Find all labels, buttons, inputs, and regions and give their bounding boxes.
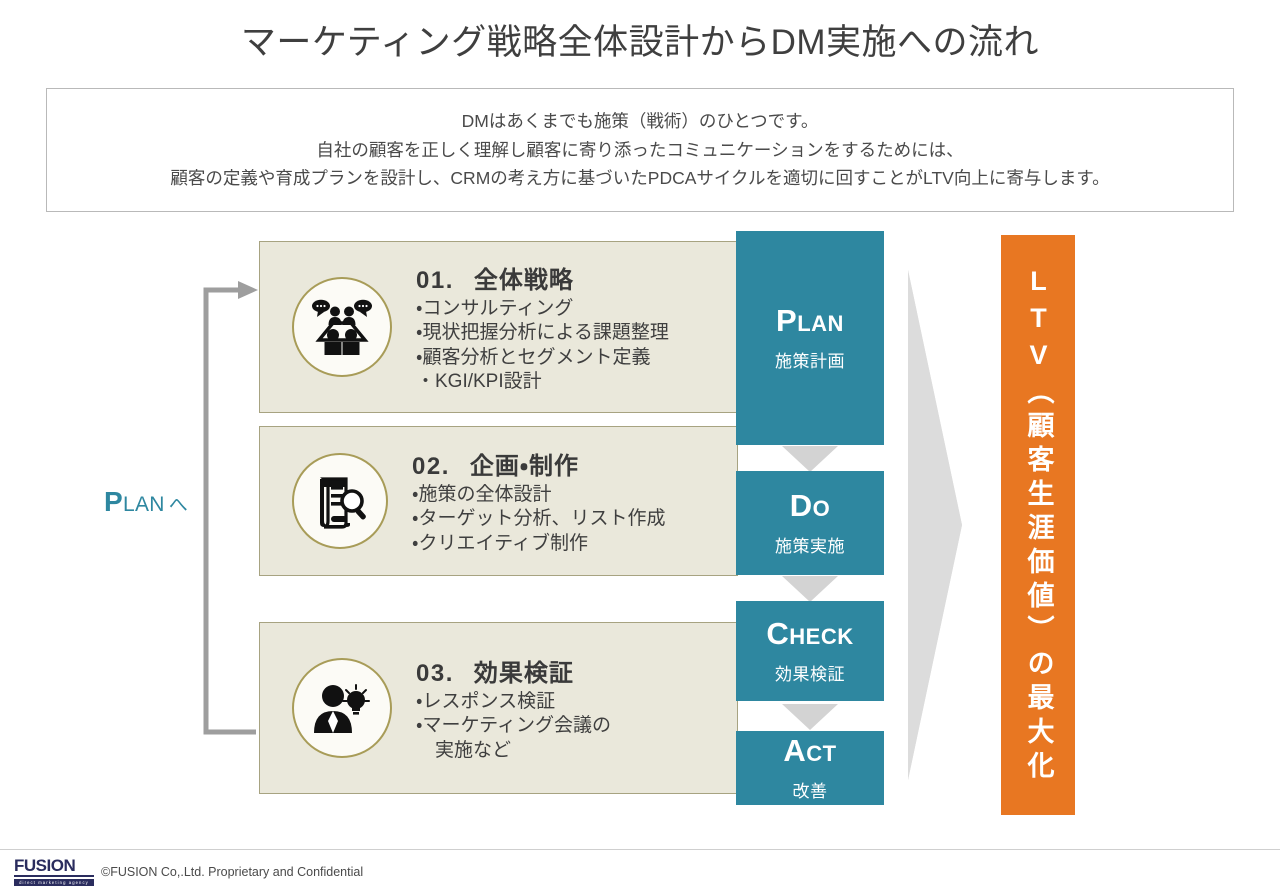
pdca-box-do[interactable]: DO 施策実施	[736, 471, 884, 575]
pdca-do-rest: O	[813, 496, 831, 521]
meeting-people-icon-svg	[311, 299, 373, 355]
step-card-03-title: 効果検証	[474, 660, 574, 687]
document-search-icon-svg	[312, 473, 368, 529]
step-card-01-list: ・コンサルティング ・現状把握分析による課題整理 ・顧客分析とセグメント定義 ・…	[416, 297, 737, 395]
right-chevron-svg	[900, 270, 1010, 780]
step-card-02-number: 02.	[412, 453, 450, 480]
list-item: ・レスポンス検証	[416, 690, 737, 715]
pdca-check-cap: C	[766, 616, 789, 651]
pdca-plan-rest: LAN	[797, 311, 844, 336]
list-item: ・施策の全体設計	[412, 483, 737, 508]
pdca-do-cap: D	[790, 488, 813, 523]
slide-root: マーケティング戦略全体設計からDM実施への流れ DMはあくまでも施策（戦術）のひ…	[0, 0, 1280, 887]
meeting-people-icon	[292, 277, 392, 377]
list-item: ・KGI/KPI設計	[416, 370, 737, 395]
lead-description-text: DMはあくまでも施策（戦術）のひとつです。 自社の顧客を正しく理解し顧客に寄り添…	[160, 107, 1119, 192]
step-card-02-heading: 02.企画・制作	[412, 446, 737, 481]
fusion-logo-wordmark: FUSION	[14, 857, 94, 877]
copyright-text: ©FUSION Co,.Ltd. Proprietary and Confide…	[101, 865, 363, 879]
pdca-act-label: ACT	[783, 734, 836, 768]
pdca-act-jp: 改善	[793, 777, 828, 802]
step-card-02-list: ・施策の全体設計 ・ターゲット分析、リスト作成 ・クリエイティブ制作	[412, 483, 737, 557]
plan-back-to: へ	[169, 495, 188, 516]
ltv-bar: LTV（顧客生涯価値）の最大化	[1001, 235, 1075, 815]
footer-divider	[0, 849, 1280, 850]
pdca-act-cap: A	[783, 733, 806, 768]
list-item: 実施など	[416, 739, 737, 764]
step-card-01-heading: 01.全体戦略	[416, 260, 737, 295]
person-idea-icon-svg	[311, 681, 373, 735]
footer: FUSION direct marketing agency ©FUSION C…	[14, 857, 363, 886]
plan-back-label: PLANへ	[104, 486, 188, 518]
feedback-loop-arrow	[196, 278, 262, 740]
step-card-03-number: 03.	[416, 660, 454, 687]
list-item: ・ターゲット分析、リスト作成	[412, 507, 737, 532]
fusion-logo: FUSION direct marketing agency	[14, 857, 94, 886]
pdca-act-rest: CT	[806, 741, 836, 766]
pdca-plan-cap: P	[776, 303, 797, 338]
right-chevron-icon	[900, 270, 1010, 780]
plan-back-cap: P	[104, 486, 123, 517]
page-title: マーケティング戦略全体設計からDM実施への流れ	[0, 14, 1280, 65]
person-idea-icon	[292, 658, 392, 758]
pdca-box-plan[interactable]: PLAN 施策計画	[736, 231, 884, 445]
plan-back-small: LAN	[123, 493, 165, 516]
list-item: ・マーケティング会議の	[416, 714, 737, 739]
step-card-02[interactable]: 02.企画・制作 ・施策の全体設計 ・ターゲット分析、リスト作成 ・クリエイティ…	[259, 426, 738, 576]
step-card-03-list: ・レスポンス検証 ・マーケティング会議の 実施など	[416, 690, 737, 764]
ltv-label: LTV（顧客生涯価値）の最大化	[1025, 266, 1052, 785]
step-card-01-body: 01.全体戦略 ・コンサルティング ・現状把握分析による課題整理 ・顧客分析とセ…	[416, 260, 737, 395]
pdca-arrow-check-to-act	[782, 704, 838, 730]
list-item: ・コンサルティング	[416, 297, 737, 322]
step-card-01[interactable]: 01.全体戦略 ・コンサルティング ・現状把握分析による課題整理 ・顧客分析とセ…	[259, 241, 738, 413]
pdca-check-rest: HECK	[789, 624, 853, 649]
step-card-03-body: 03.効果検証 ・レスポンス検証 ・マーケティング会議の 実施など	[416, 653, 737, 764]
lead-line-2: 自社の顧客を正しく理解し顧客に寄り添ったコミュニケーションをするためには、	[170, 136, 1109, 164]
step-card-03-heading: 03.効果検証	[416, 653, 737, 688]
pdca-plan-label: PLAN	[776, 304, 844, 338]
lead-description-box: DMはあくまでも施策（戦術）のひとつです。 自社の顧客を正しく理解し顧客に寄り添…	[46, 88, 1234, 212]
pdca-plan-jp: 施策計画	[775, 347, 845, 372]
pdca-check-jp: 効果検証	[775, 660, 845, 685]
step-card-03[interactable]: 03.効果検証 ・レスポンス検証 ・マーケティング会議の 実施など	[259, 622, 738, 794]
list-item: ・現状把握分析による課題整理	[416, 321, 737, 346]
lead-line-1: DMはあくまでも施策（戦術）のひとつです。	[170, 107, 1109, 135]
pdca-box-check[interactable]: CHECK 効果検証	[736, 601, 884, 701]
pdca-arrow-do-to-check	[782, 576, 838, 602]
step-card-02-title: 企画・制作	[470, 453, 579, 480]
document-search-icon	[292, 453, 388, 549]
list-item: ・クリエイティブ制作	[412, 532, 737, 557]
step-card-02-body: 02.企画・制作 ・施策の全体設計 ・ターゲット分析、リスト作成 ・クリエイティ…	[412, 446, 737, 557]
pdca-do-jp: 施策実施	[775, 532, 845, 557]
lead-line-3: 顧客の定義や育成プランを設計し、CRMの考え方に基づいたPDCAサイクルを適切に…	[170, 164, 1109, 192]
loop-arrow-svg	[196, 278, 262, 740]
list-item: ・顧客分析とセグメント定義	[416, 346, 737, 371]
pdca-check-label: CHECK	[766, 617, 853, 651]
pdca-do-label: DO	[790, 489, 831, 523]
step-card-01-title: 全体戦略	[474, 267, 574, 294]
pdca-box-act[interactable]: ACT 改善	[736, 731, 884, 805]
pdca-arrow-plan-to-do	[782, 446, 838, 472]
step-card-01-number: 01.	[416, 267, 454, 294]
fusion-logo-tagline: direct marketing agency	[14, 879, 94, 886]
